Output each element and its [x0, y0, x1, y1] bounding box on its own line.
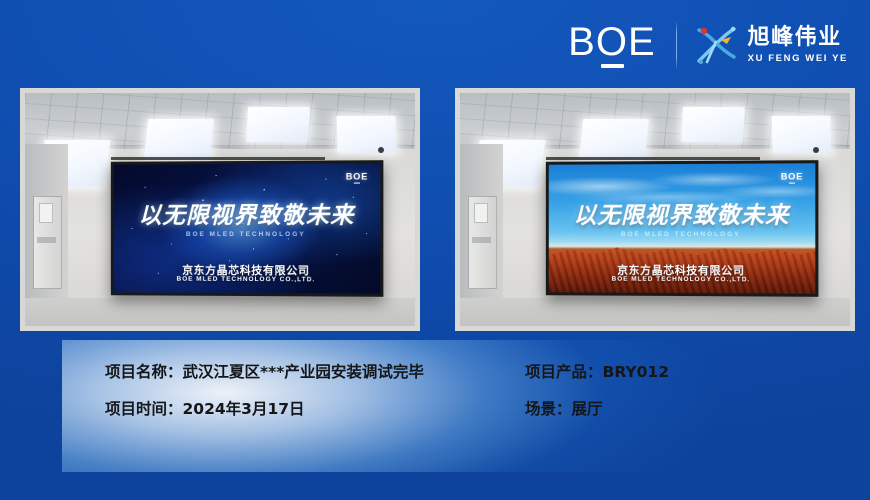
project-name-label: 项目名称： — [105, 363, 183, 381]
floor — [25, 298, 415, 326]
screen-slogan-en: BOE MLED TECHNOLOGY — [621, 231, 741, 238]
caption-text-grid: 项目名称：武汉江夏区***产业园安装调试完毕 项目产品：BRY012 项目时间：… — [105, 363, 805, 418]
screen-boe-mark: BOE — [781, 171, 803, 184]
ceiling-light — [771, 116, 831, 153]
photo-right: BOE 以无限视界致敬未来 BOE MLED TECHNOLOGY 京东方晶芯科… — [455, 88, 855, 331]
ceiling-light — [144, 119, 214, 159]
screen-slogan-en: BOE MLED TECHNOLOGY — [186, 231, 306, 238]
wall-plate — [474, 203, 488, 224]
partner-name-cn: 旭峰伟业 — [748, 27, 848, 49]
screen-boe-text: BOE — [346, 171, 368, 181]
wall-plate — [39, 203, 53, 224]
project-name-line: 项目名称：武汉江夏区***产业园安装调试完毕 — [105, 363, 525, 382]
screen-boe-mark: BOE — [346, 171, 368, 184]
project-product-label: 项目产品： — [525, 363, 603, 381]
led-screen-left: BOE 以无限视界致敬未来 BOE MLED TECHNOLOGY 京东方晶芯科… — [111, 160, 384, 297]
screen-slogan-cn: 以无限视界致敬未来 — [135, 195, 359, 229]
boe-logo-text: BOE — [568, 23, 655, 61]
brand-divider — [676, 21, 677, 69]
project-date-value: 2024年3月17日 — [183, 400, 305, 418]
ceiling-light — [681, 107, 745, 142]
project-name-value: 武汉江夏区***产业园安装调试完毕 — [183, 363, 424, 381]
screen-company-en: BOE MLED TECHNOLOGY CO.,LTD. — [176, 276, 315, 284]
ceiling-camera-icon — [813, 147, 819, 153]
boe-logo-underline — [601, 64, 624, 68]
project-product-value: BRY012 — [603, 363, 669, 381]
wall-switch — [472, 237, 492, 242]
scene-label: 场景： — [525, 400, 572, 418]
floor — [460, 298, 850, 326]
brand-bar: BOE 旭峰伟业 XU FENG WEI YE — [568, 14, 848, 76]
ceiling-light — [336, 116, 396, 153]
led-screen-right: BOE 以无限视界致敬未来 BOE MLED TECHNOLOGY 京东方晶芯科… — [546, 160, 819, 297]
partner-name-block: 旭峰伟业 XU FENG WEI YE — [748, 27, 848, 64]
screen-slogan-cn: 以无限视界致敬未来 — [570, 195, 794, 229]
showroom-scene-right: BOE 以无限视界致敬未来 BOE MLED TECHNOLOGY 京东方晶芯科… — [460, 93, 850, 326]
showroom-scene-left: BOE 以无限视界致敬未来 BOE MLED TECHNOLOGY 京东方晶芯科… — [25, 93, 415, 326]
partner-logo: 旭峰伟业 XU FENG WEI YE — [693, 23, 848, 67]
ceiling-camera-icon — [378, 147, 384, 153]
boe-logo: BOE — [568, 23, 675, 68]
wall-switch — [37, 237, 57, 242]
partner-name-en: XU FENG WEI YE — [748, 54, 848, 64]
project-date-label: 项目时间： — [105, 400, 183, 418]
scene-line: 场景：展厅 — [525, 400, 805, 419]
screen-boe-text: BOE — [781, 171, 803, 181]
crane-bird-icon — [693, 23, 739, 67]
poster-root: BOE 旭峰伟业 XU FENG WEI YE — [0, 0, 870, 500]
scene-value: 展厅 — [572, 400, 603, 418]
ceiling-light — [579, 119, 649, 159]
photo-left: BOE 以无限视界致敬未来 BOE MLED TECHNOLOGY 京东方晶芯科… — [20, 88, 420, 331]
screen-company-en: BOE MLED TECHNOLOGY CO.,LTD. — [611, 276, 750, 284]
project-product-line: 项目产品：BRY012 — [525, 363, 805, 382]
ceiling-light — [246, 107, 310, 142]
project-date-line: 项目时间：2024年3月17日 — [105, 400, 525, 419]
